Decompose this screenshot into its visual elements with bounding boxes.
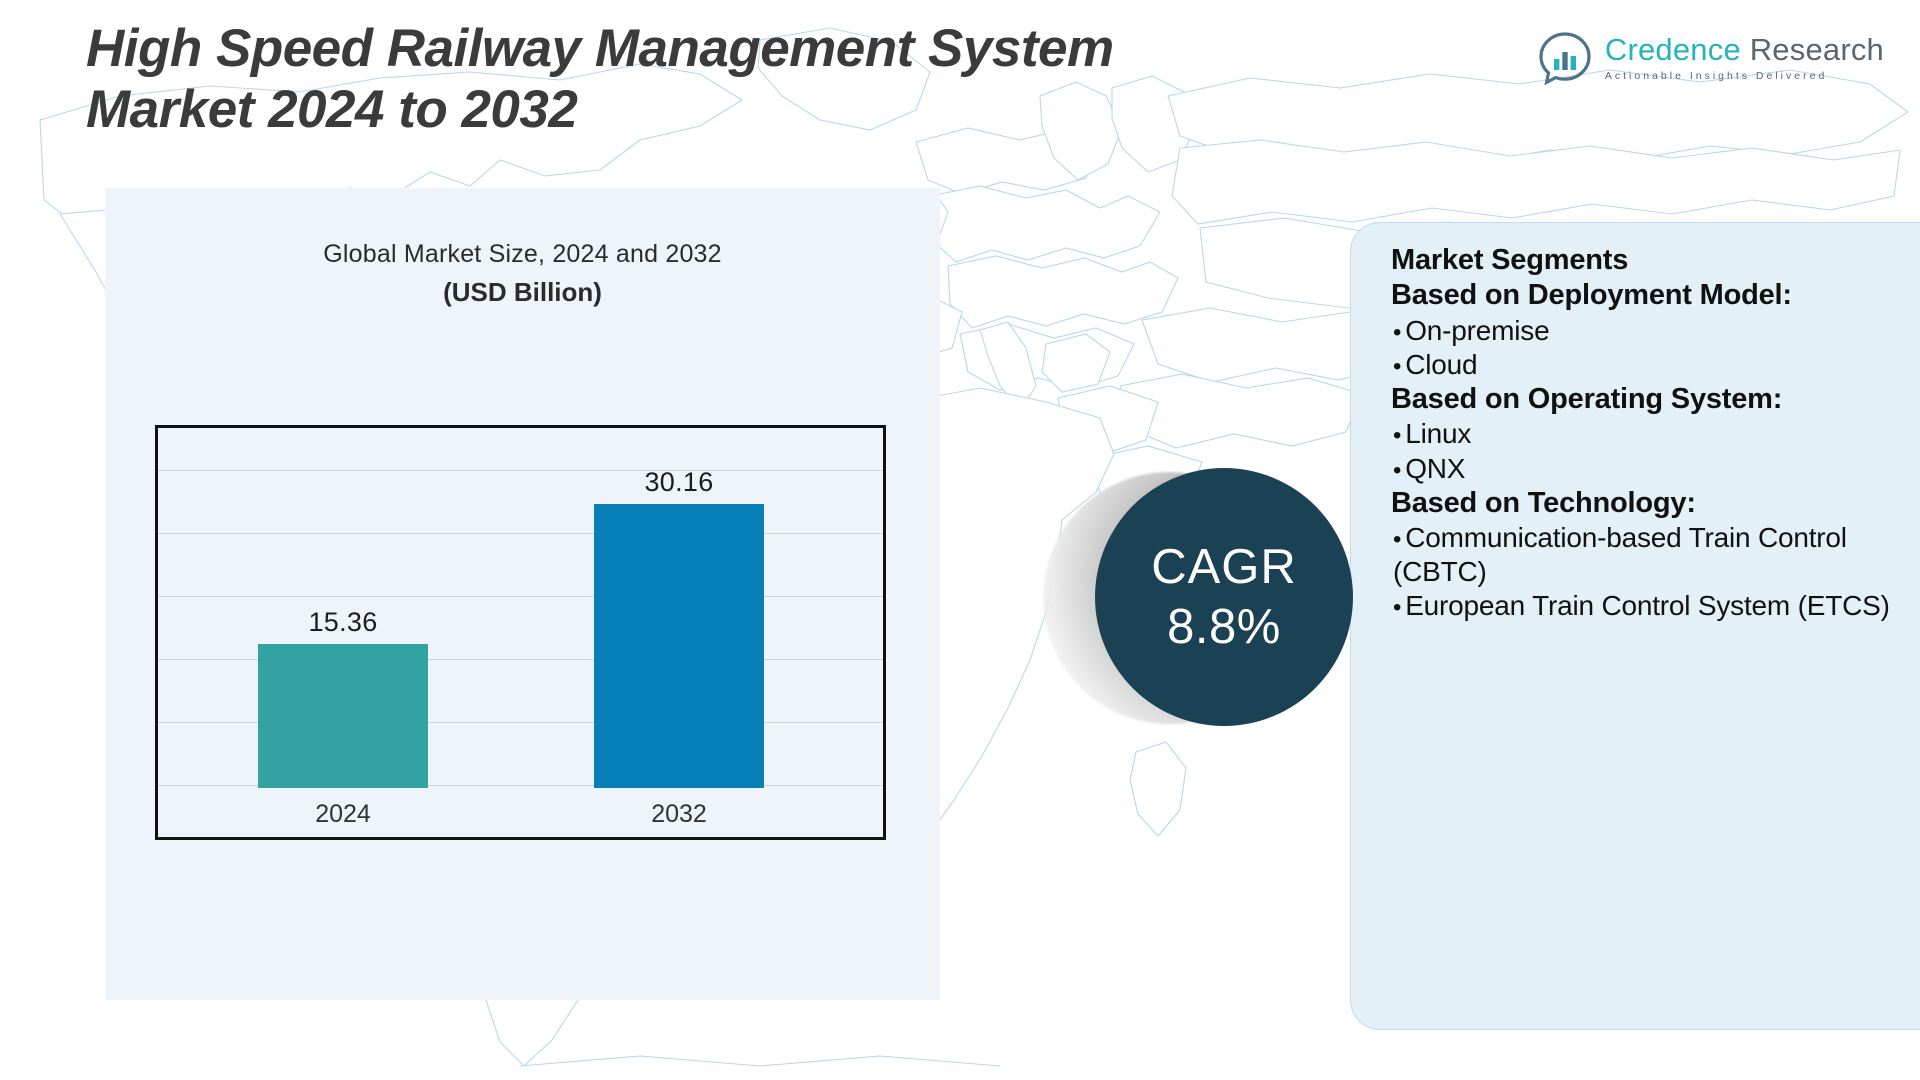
cagr-value: 8.8%	[1167, 603, 1281, 652]
market-segments-panel: Market Segments Based on Deployment Mode…	[1350, 222, 1920, 1030]
segment-group-heading: Based on Operating System:	[1391, 382, 1920, 417]
bar-value-2024: 15.36	[258, 607, 428, 638]
page-title: High Speed Railway Management System Mar…	[86, 18, 1506, 141]
bar-chart: 15.36 30.16 2024 2032	[155, 425, 886, 840]
segment-group-operating-system: Based on Operating System: Linux QNX	[1391, 382, 1920, 486]
chart-caption-line-2: (USD Billion)	[105, 277, 940, 308]
logo-name-part2: Research	[1750, 32, 1884, 67]
segment-group-heading: Based on Technology:	[1391, 486, 1920, 521]
brand-logo[interactable]: Credence Research Actionable Insights De…	[1537, 30, 1884, 86]
bar-chart-bubble-icon	[1537, 30, 1593, 86]
segment-item: QNX	[1391, 452, 1920, 486]
bar-value-2032: 30.16	[594, 467, 764, 498]
bar-2032	[594, 504, 764, 788]
bar-label-2032: 2032	[594, 800, 764, 829]
cagr-label: CAGR	[1151, 543, 1297, 592]
page-title-line-2: Market 2024 to 2032	[86, 79, 1506, 140]
chart-caption-line-1: Global Market Size, 2024 and 2032	[105, 240, 940, 269]
segment-item: On-premise	[1391, 314, 1920, 348]
segment-group-deployment: Based on Deployment Model: On-premise Cl…	[1391, 278, 1920, 382]
logo-name: Credence Research	[1605, 34, 1884, 67]
bar-2024	[258, 644, 428, 788]
bar-label-2024: 2024	[258, 800, 428, 829]
cagr-circle: CAGR 8.8%	[1095, 468, 1353, 726]
segment-item: Communication-based Train Control (CBTC)	[1391, 521, 1920, 589]
gridline	[158, 470, 883, 471]
segment-item: Cloud	[1391, 348, 1920, 382]
chart-plot-area: 15.36 30.16 2024 2032	[158, 428, 883, 837]
gridline	[158, 533, 883, 534]
infographic-canvas: High Speed Railway Management System Mar…	[0, 0, 1920, 1080]
page-title-line-1: High Speed Railway Management System	[86, 18, 1506, 79]
chart-caption: Global Market Size, 2024 and 2032 (USD B…	[105, 240, 940, 308]
logo-tagline: Actionable Insights Delivered	[1605, 70, 1884, 82]
logo-name-part1: Credence	[1605, 32, 1741, 67]
cagr-badge: CAGR 8.8%	[1035, 460, 1365, 760]
segment-group-heading: Based on Deployment Model:	[1391, 278, 1920, 313]
segment-group-technology: Based on Technology: Communication-based…	[1391, 486, 1920, 624]
segment-item: Linux	[1391, 417, 1920, 451]
segments-title: Market Segments	[1391, 243, 1920, 278]
gridline	[158, 596, 883, 597]
logo-text-block: Credence Research Actionable Insights De…	[1605, 34, 1884, 82]
segment-item: European Train Control System (ETCS)	[1391, 589, 1920, 623]
